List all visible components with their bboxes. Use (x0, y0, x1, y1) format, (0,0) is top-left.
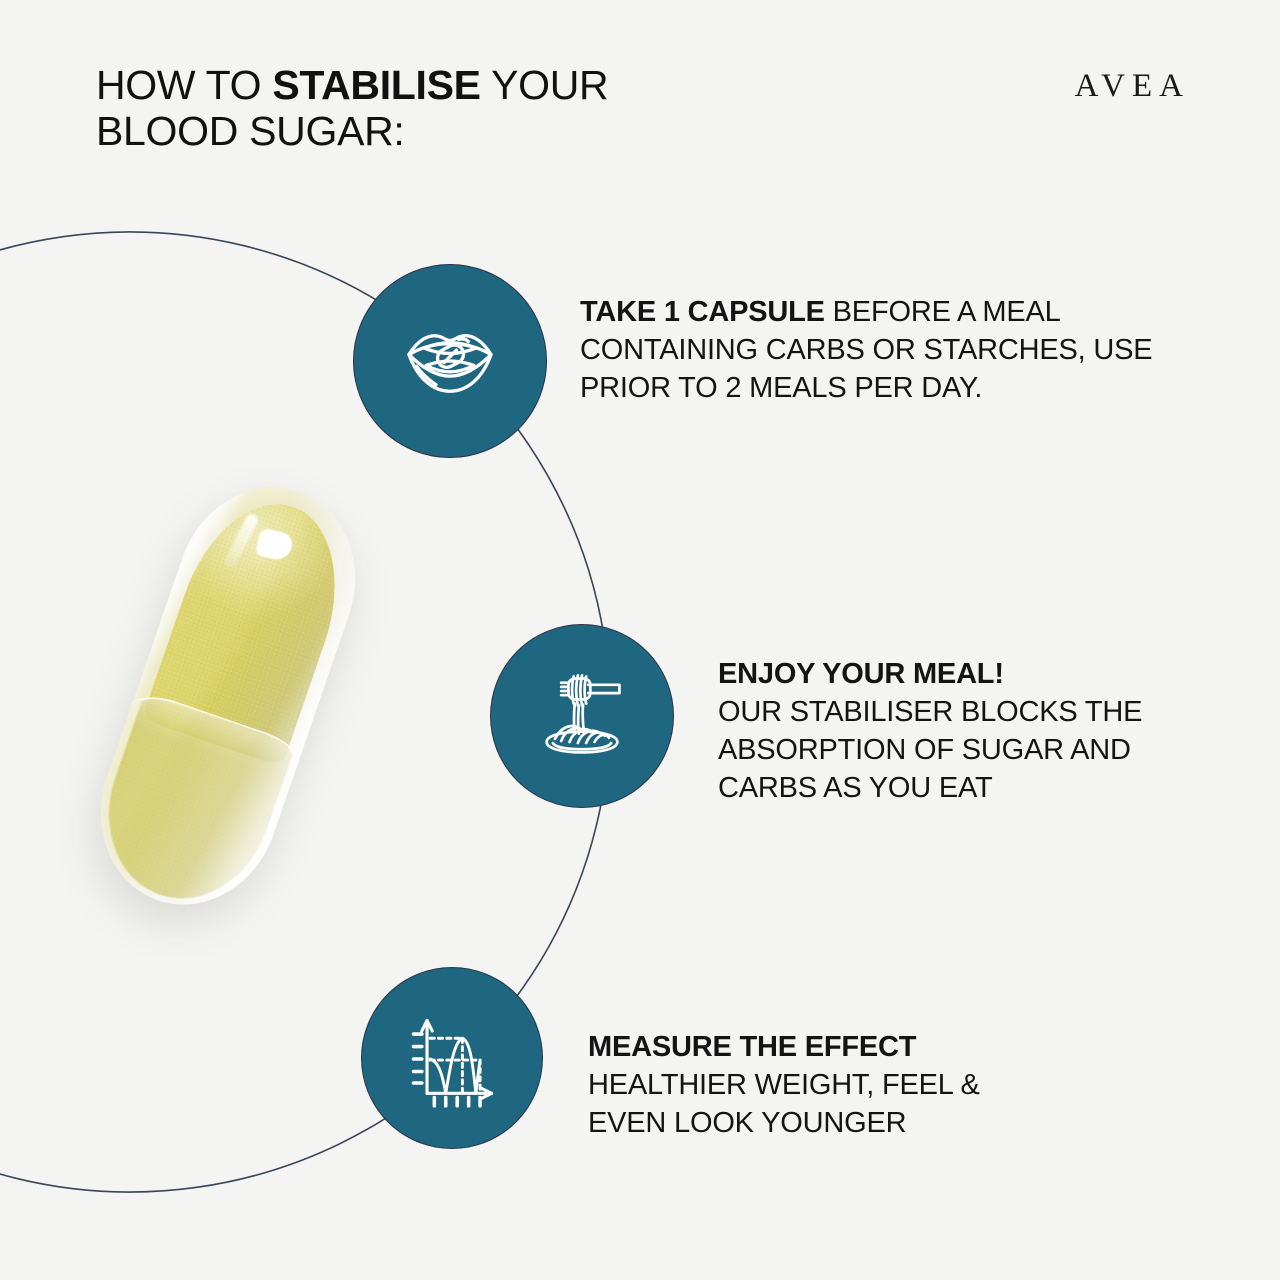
product-capsule-image (78, 470, 378, 940)
page-title-highlight: STABILISE (272, 62, 480, 108)
step-3-icon-badge (361, 967, 543, 1149)
page-title: HOW TO STABILISE YOUR BLOOD SUGAR: (96, 62, 736, 154)
step-2-lead: ENJOY YOUR MEAL! (718, 658, 1004, 690)
step-1-lead: TAKE 1 CAPSULE (580, 296, 825, 328)
capsule-shell (74, 463, 381, 929)
step-1-text: TAKE 1 CAPSULE BEFORE A MEAL CONTAINING … (580, 293, 1160, 407)
step-3-text: MEASURE THE EFFECT HEALTHIER WEIGHT, FEE… (588, 1028, 1058, 1142)
step-2-icon-badge (490, 624, 674, 808)
step-2-body: OUR STABILISER BLOCKS THE ABSORPTION OF … (718, 696, 1142, 804)
step-2-text: ENJOY YOUR MEAL! OUR STABILISER BLOCKS T… (718, 655, 1196, 807)
brand-logo: AVEA (1075, 68, 1190, 105)
step-3-body: HEALTHIER WEIGHT, FEEL & EVEN LOOK YOUNG… (588, 1069, 980, 1139)
step-3-lead: MEASURE THE EFFECT (588, 1031, 916, 1063)
line-chart-icon (400, 1006, 504, 1110)
step-1-icon-badge (353, 264, 547, 458)
infographic-canvas: HOW TO STABILISE YOUR BLOOD SUGAR: AVEA (0, 0, 1280, 1280)
mouth-with-capsule-icon (396, 307, 504, 415)
capsule (74, 463, 381, 929)
page-title-part1: HOW TO (96, 62, 272, 108)
fork-spaghetti-plate-icon (530, 664, 634, 768)
